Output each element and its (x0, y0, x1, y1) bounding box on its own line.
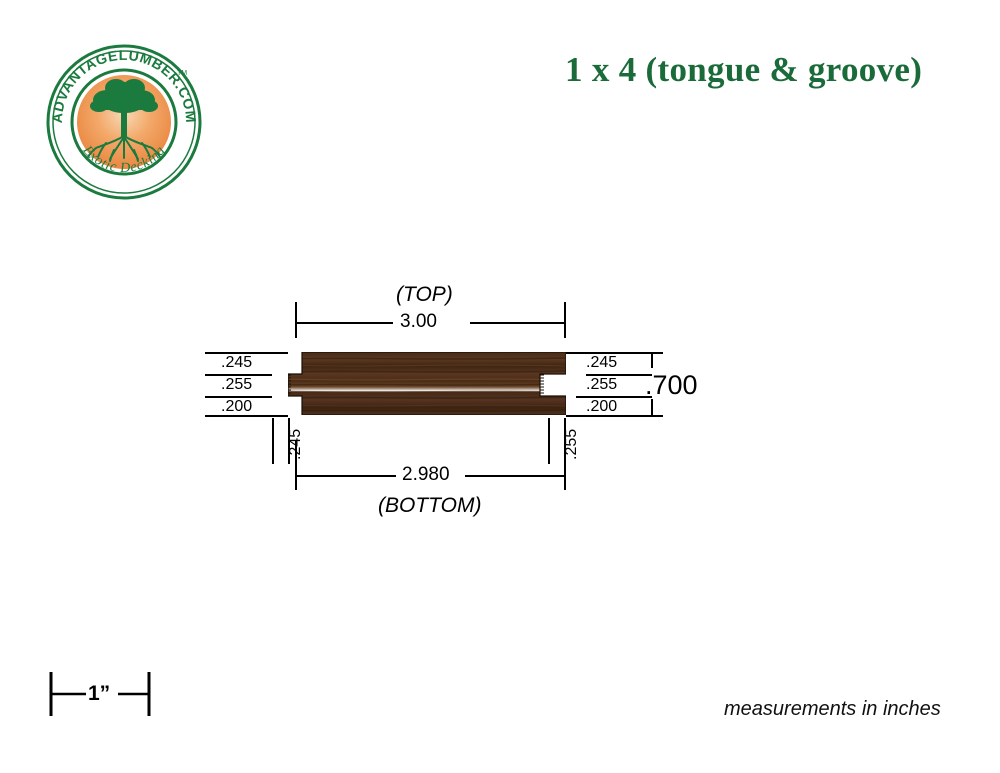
top-face-label: (TOP) (396, 283, 453, 307)
left-leader-bottom (205, 415, 288, 417)
top-dim-tick-right (564, 302, 566, 338)
right-band-top-value: .245 (586, 354, 617, 372)
left-band-mid-value: .255 (221, 376, 252, 394)
left-band-top-value: .245 (221, 354, 252, 372)
bottom-face-label: (BOTTOM) (378, 494, 481, 518)
bottom-dim-line-right (465, 475, 566, 477)
bottom-dim-tick-left (295, 440, 297, 490)
thickness-dim-line-upper (651, 352, 653, 368)
advantagelumber-logo: ADVANTAGELUMBER.COM TM Exotic Decking (44, 42, 204, 202)
thickness-dim-line-lower (651, 399, 653, 415)
tongue-length-ext-left (272, 418, 274, 464)
right-leader-bottom (566, 415, 652, 417)
left-band-bottom-value: .200 (221, 398, 252, 416)
right-band-mid-value: .255 (586, 376, 617, 394)
board-cross-section (288, 352, 566, 415)
scale-bar-label: 1” (88, 682, 110, 706)
top-width-value: 3.00 (400, 311, 437, 333)
groove-depth-ext-left (548, 418, 550, 464)
top-dim-line-left (295, 322, 393, 324)
measurement-note: measurements in inches (724, 698, 941, 721)
total-thickness-value: .700 (645, 370, 698, 401)
top-dim-line-right (470, 322, 566, 324)
page-title: 1 x 4 (tongue & groove) (565, 50, 975, 90)
bottom-dim-tick-right (564, 440, 566, 490)
bottom-width-value: 2.980 (402, 464, 450, 486)
trademark-mark: TM (177, 70, 187, 77)
thickness-tick-bottom (641, 415, 663, 417)
bottom-dim-line-left (295, 475, 396, 477)
right-band-bottom-value: .200 (586, 398, 617, 416)
top-dim-tick-left (295, 302, 297, 338)
